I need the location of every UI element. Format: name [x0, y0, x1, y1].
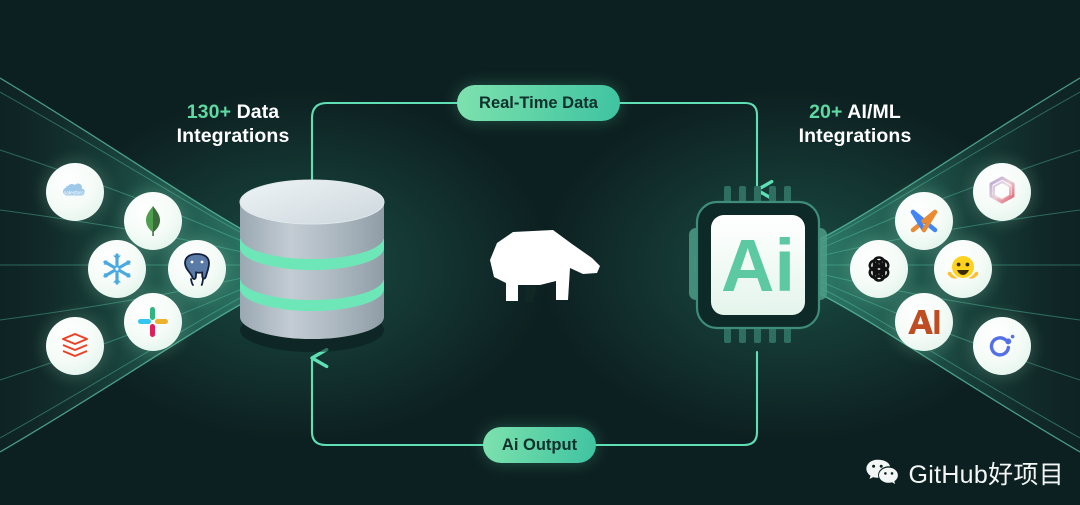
integration-icon-cohere[interactable]	[973, 163, 1031, 221]
integration-icon-huggingface[interactable]	[934, 240, 992, 298]
huggingface-icon	[945, 252, 981, 286]
ai-output-pill[interactable]: Ai Output	[483, 427, 596, 463]
infographic-canvas: Ai 130+ Data Integrations 20+ AI/ML Inte…	[0, 0, 1080, 505]
chip-label: Ai	[721, 224, 795, 307]
mongodb-icon	[136, 204, 170, 238]
left-count-suffix: Data	[231, 101, 279, 123]
watermark-text: GitHub好项目	[908, 455, 1064, 491]
integration-icon-salesforce[interactable]: salesforce	[46, 163, 104, 221]
openai-icon	[862, 252, 896, 286]
realtime-data-pill[interactable]: Real-Time Data	[457, 85, 620, 121]
integration-icon-snowflake[interactable]	[88, 240, 146, 298]
slack-icon	[136, 305, 170, 339]
database-cylinder	[240, 180, 384, 352]
integration-icon-postgresql[interactable]	[168, 240, 226, 298]
right-count: 20+	[809, 101, 842, 123]
left-count: 130+	[187, 101, 231, 123]
left-label-line2: Integrations	[177, 125, 290, 147]
vertex-ai-icon	[906, 205, 942, 237]
right-count-suffix: AI/ML	[843, 101, 901, 123]
integration-icon-openai[interactable]	[850, 240, 908, 298]
integration-icon-databricks[interactable]	[46, 317, 104, 375]
integration-icon-slack[interactable]	[124, 293, 182, 351]
ai-chip: Ai	[689, 186, 827, 343]
integration-icon-anthropic[interactable]	[895, 293, 953, 351]
watermark: GitHub好项目	[865, 455, 1064, 491]
integration-icon-mistral[interactable]	[973, 317, 1031, 375]
svg-text:salesforce: salesforce	[64, 191, 87, 197]
right-integrations-label: 20+ AI/ML Integrations	[740, 100, 970, 148]
mistral-icon	[985, 329, 1019, 363]
cohere-icon	[985, 175, 1019, 209]
integration-icon-mongodb[interactable]	[124, 192, 182, 250]
salesforce-icon: salesforce	[55, 172, 95, 212]
left-integrations-label: 130+ Data Integrations	[108, 100, 358, 148]
anthropic-icon	[906, 306, 942, 338]
databricks-icon	[58, 329, 92, 363]
integration-icon-vertex-ai[interactable]	[895, 192, 953, 250]
wechat-icon	[865, 458, 899, 488]
right-label-line2: Integrations	[799, 125, 912, 147]
postgresql-icon	[177, 251, 217, 287]
snowflake-icon	[99, 251, 135, 287]
